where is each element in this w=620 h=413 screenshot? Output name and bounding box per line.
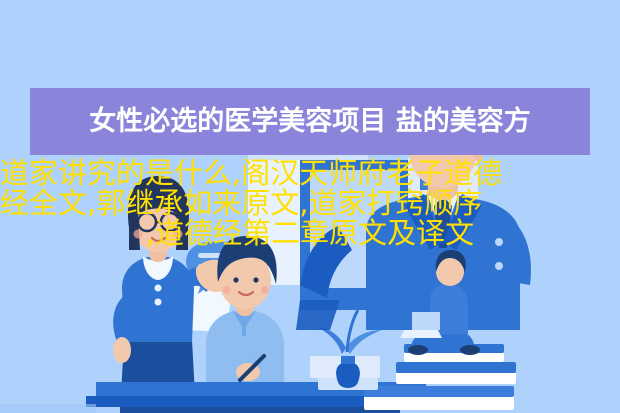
yellow-caption-overlay: 道家讲究的是什么,阁汉天师府老子道德 经全文,郭继承如来原文,道家打窍顺序 ,道… bbox=[0, 158, 620, 248]
banner-title-text: 女性必选的医学美容项目 盐的美容方 bbox=[89, 108, 530, 135]
caption-line-3: ,道德经第二章原文及译文 bbox=[2, 218, 618, 248]
caption-line-1: 道家讲究的是什么,阁汉天师府老子道德 bbox=[0, 158, 618, 188]
image-canvas: 女性必选的医学美容项目 盐的美容方 道家讲究的是什么,阁汉天师府老子道德 经全文… bbox=[0, 0, 620, 413]
purple-title-banner: 女性必选的医学美容项目 盐的美容方 bbox=[30, 88, 590, 155]
caption-line-2: 经全文,郭继承如来原文,道家打窍顺序 bbox=[0, 188, 618, 218]
